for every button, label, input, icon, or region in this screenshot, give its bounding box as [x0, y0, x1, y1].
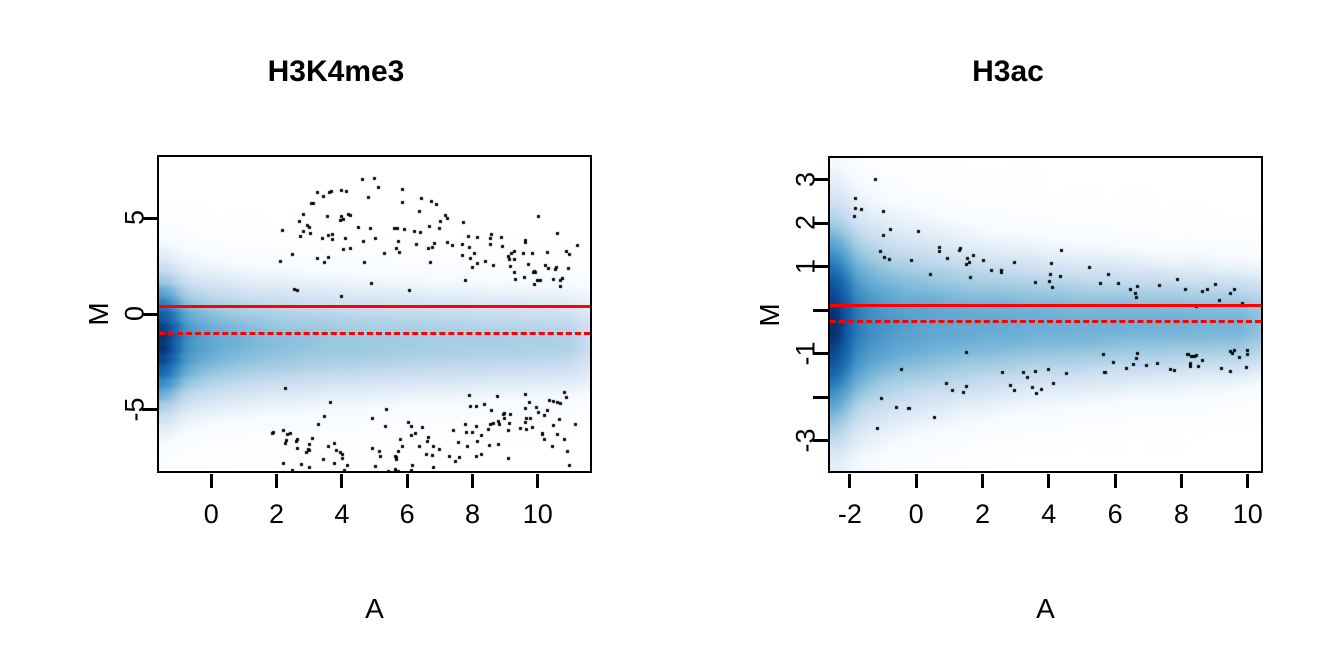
x-tick-mark: [406, 474, 409, 488]
plot-area-left: [157, 155, 592, 473]
x-tick-label: 10: [498, 501, 578, 528]
y-tick-label: 3: [793, 139, 820, 219]
panel-title-right: H3ac: [672, 55, 1344, 89]
panel-title-left: H3K4me3: [0, 55, 672, 89]
y-axis-title-left: M: [85, 254, 113, 374]
x-tick-mark: [981, 474, 984, 488]
plot-area-right: [828, 156, 1263, 473]
y-tick-label: -3: [793, 400, 820, 480]
x-tick-label: 10: [1208, 501, 1288, 528]
x-tick-mark: [1180, 474, 1183, 488]
ma-plot-figure: H3K4me3 0246810-505 M A H3ac -20246810-3…: [0, 0, 1344, 672]
x-tick-mark: [210, 474, 213, 488]
x-tick-mark: [1047, 474, 1050, 488]
x-tick-mark: [340, 474, 343, 488]
density-canvas-right: [830, 158, 1261, 471]
x-tick-mark: [848, 474, 851, 488]
density-canvas-left: [159, 157, 590, 471]
x-tick-mark: [536, 474, 539, 488]
y-tick-label: 0: [122, 274, 149, 354]
y-tick-label: -1: [793, 313, 820, 393]
y-tick-mark: [813, 396, 828, 399]
panel-h3k4me3: H3K4me3 0246810-505 M A: [0, 0, 672, 672]
y-tick-label: 5: [122, 178, 149, 258]
x-tick-mark: [275, 474, 278, 488]
x-tick-mark: [915, 474, 918, 488]
x-tick-mark: [1246, 474, 1249, 488]
x-tick-mark: [1114, 474, 1117, 488]
x-axis-title-right: A: [986, 595, 1106, 623]
y-tick-mark: [813, 309, 828, 312]
x-tick-mark: [471, 474, 474, 488]
y-tick-label: -5: [122, 369, 149, 449]
x-axis-title-left: A: [315, 595, 435, 623]
y-axis-title-right: M: [756, 255, 784, 375]
panel-h3ac: H3ac -20246810-3-1123 M A: [672, 0, 1344, 672]
